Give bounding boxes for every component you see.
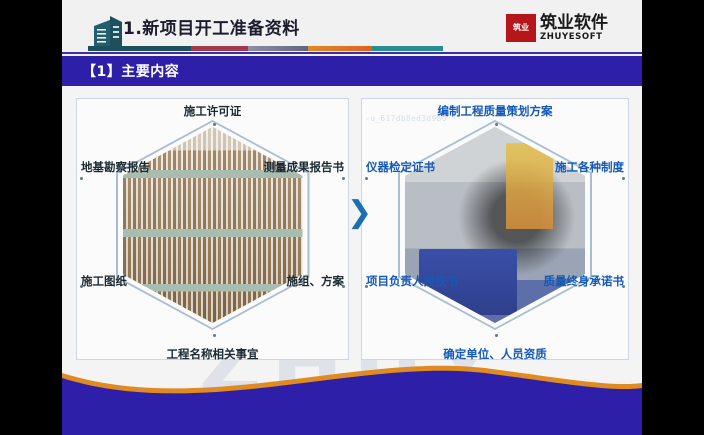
stage2-label-upper-left: 仪器检定证书: [366, 161, 435, 174]
stage1-label-upper-right: 测量成果报告书: [264, 161, 345, 174]
logo-wordmark: 筑业软件 ZHUYESOFT: [540, 15, 608, 42]
stage2-label-lower-right: 质量终身承诺书: [544, 275, 625, 288]
stage-panel-1: 施工许可证 地基勘察报告 测量成果报告书 施工图纸 施组、方案 工程名称相关事宜: [76, 98, 349, 360]
logo-mark-text: 筑业: [513, 24, 529, 32]
slide-body: ZHUY 施工许可证 地基勘察报告 测量成果报告书 施工图纸 施组、方案 工程名…: [62, 86, 642, 435]
stage1-label-lower-right: 施组、方案: [287, 275, 345, 288]
stage1-hexagon-wrap: [77, 127, 348, 333]
stage-arrow-icon: ❯: [347, 198, 372, 228]
logo-mark-icon: 筑业: [506, 14, 536, 42]
slide-canvas: 1.新项目开工准备资料 筑业 筑业软件 ZHUYESOFT 【1】主要内容 ZH…: [62, 0, 642, 435]
stage2-label-upper-right: 施工各种制度: [555, 161, 624, 174]
header-divider: [62, 52, 642, 54]
watermark-hash: -u_617db8ed3d9b0: [365, 114, 447, 123]
logo-name-cn: 筑业软件: [540, 15, 608, 32]
stage1-label-lower-left: 施工图纸: [81, 275, 127, 288]
slide-header: 1.新项目开工准备资料 筑业 筑业软件 ZHUYESOFT: [62, 0, 642, 58]
brand-logo: 筑业 筑业软件 ZHUYESOFT: [506, 10, 626, 46]
stage-panel-2: 编制工程质量策划方案 仪器检定证书 施工各种制度 项目负责人授权书 质量终身承诺…: [361, 98, 629, 360]
page-title: 1.新项目开工准备资料: [123, 14, 300, 39]
logo-name-en: ZHUYESOFT: [540, 33, 608, 42]
stage2-label-lower-left: 项目负责人授权书: [366, 275, 458, 288]
section-title: 【1】主要内容: [82, 61, 179, 81]
section-bar: 【1】主要内容: [62, 56, 642, 86]
building-icon: [88, 13, 128, 49]
screen-root: 1.新项目开工准备资料 筑业 筑业软件 ZHUYESOFT 【1】主要内容 ZH…: [0, 0, 704, 435]
footer-wave: [62, 347, 642, 435]
stage1-label-top: 施工许可证: [184, 105, 242, 118]
stage2-hexagon-wrap: [362, 127, 628, 333]
stage2-label-top: 编制工程质量策划方案: [438, 105, 553, 118]
stage1-label-upper-left: 地基勘察报告: [81, 161, 150, 174]
header-accent-bar: [88, 46, 443, 51]
